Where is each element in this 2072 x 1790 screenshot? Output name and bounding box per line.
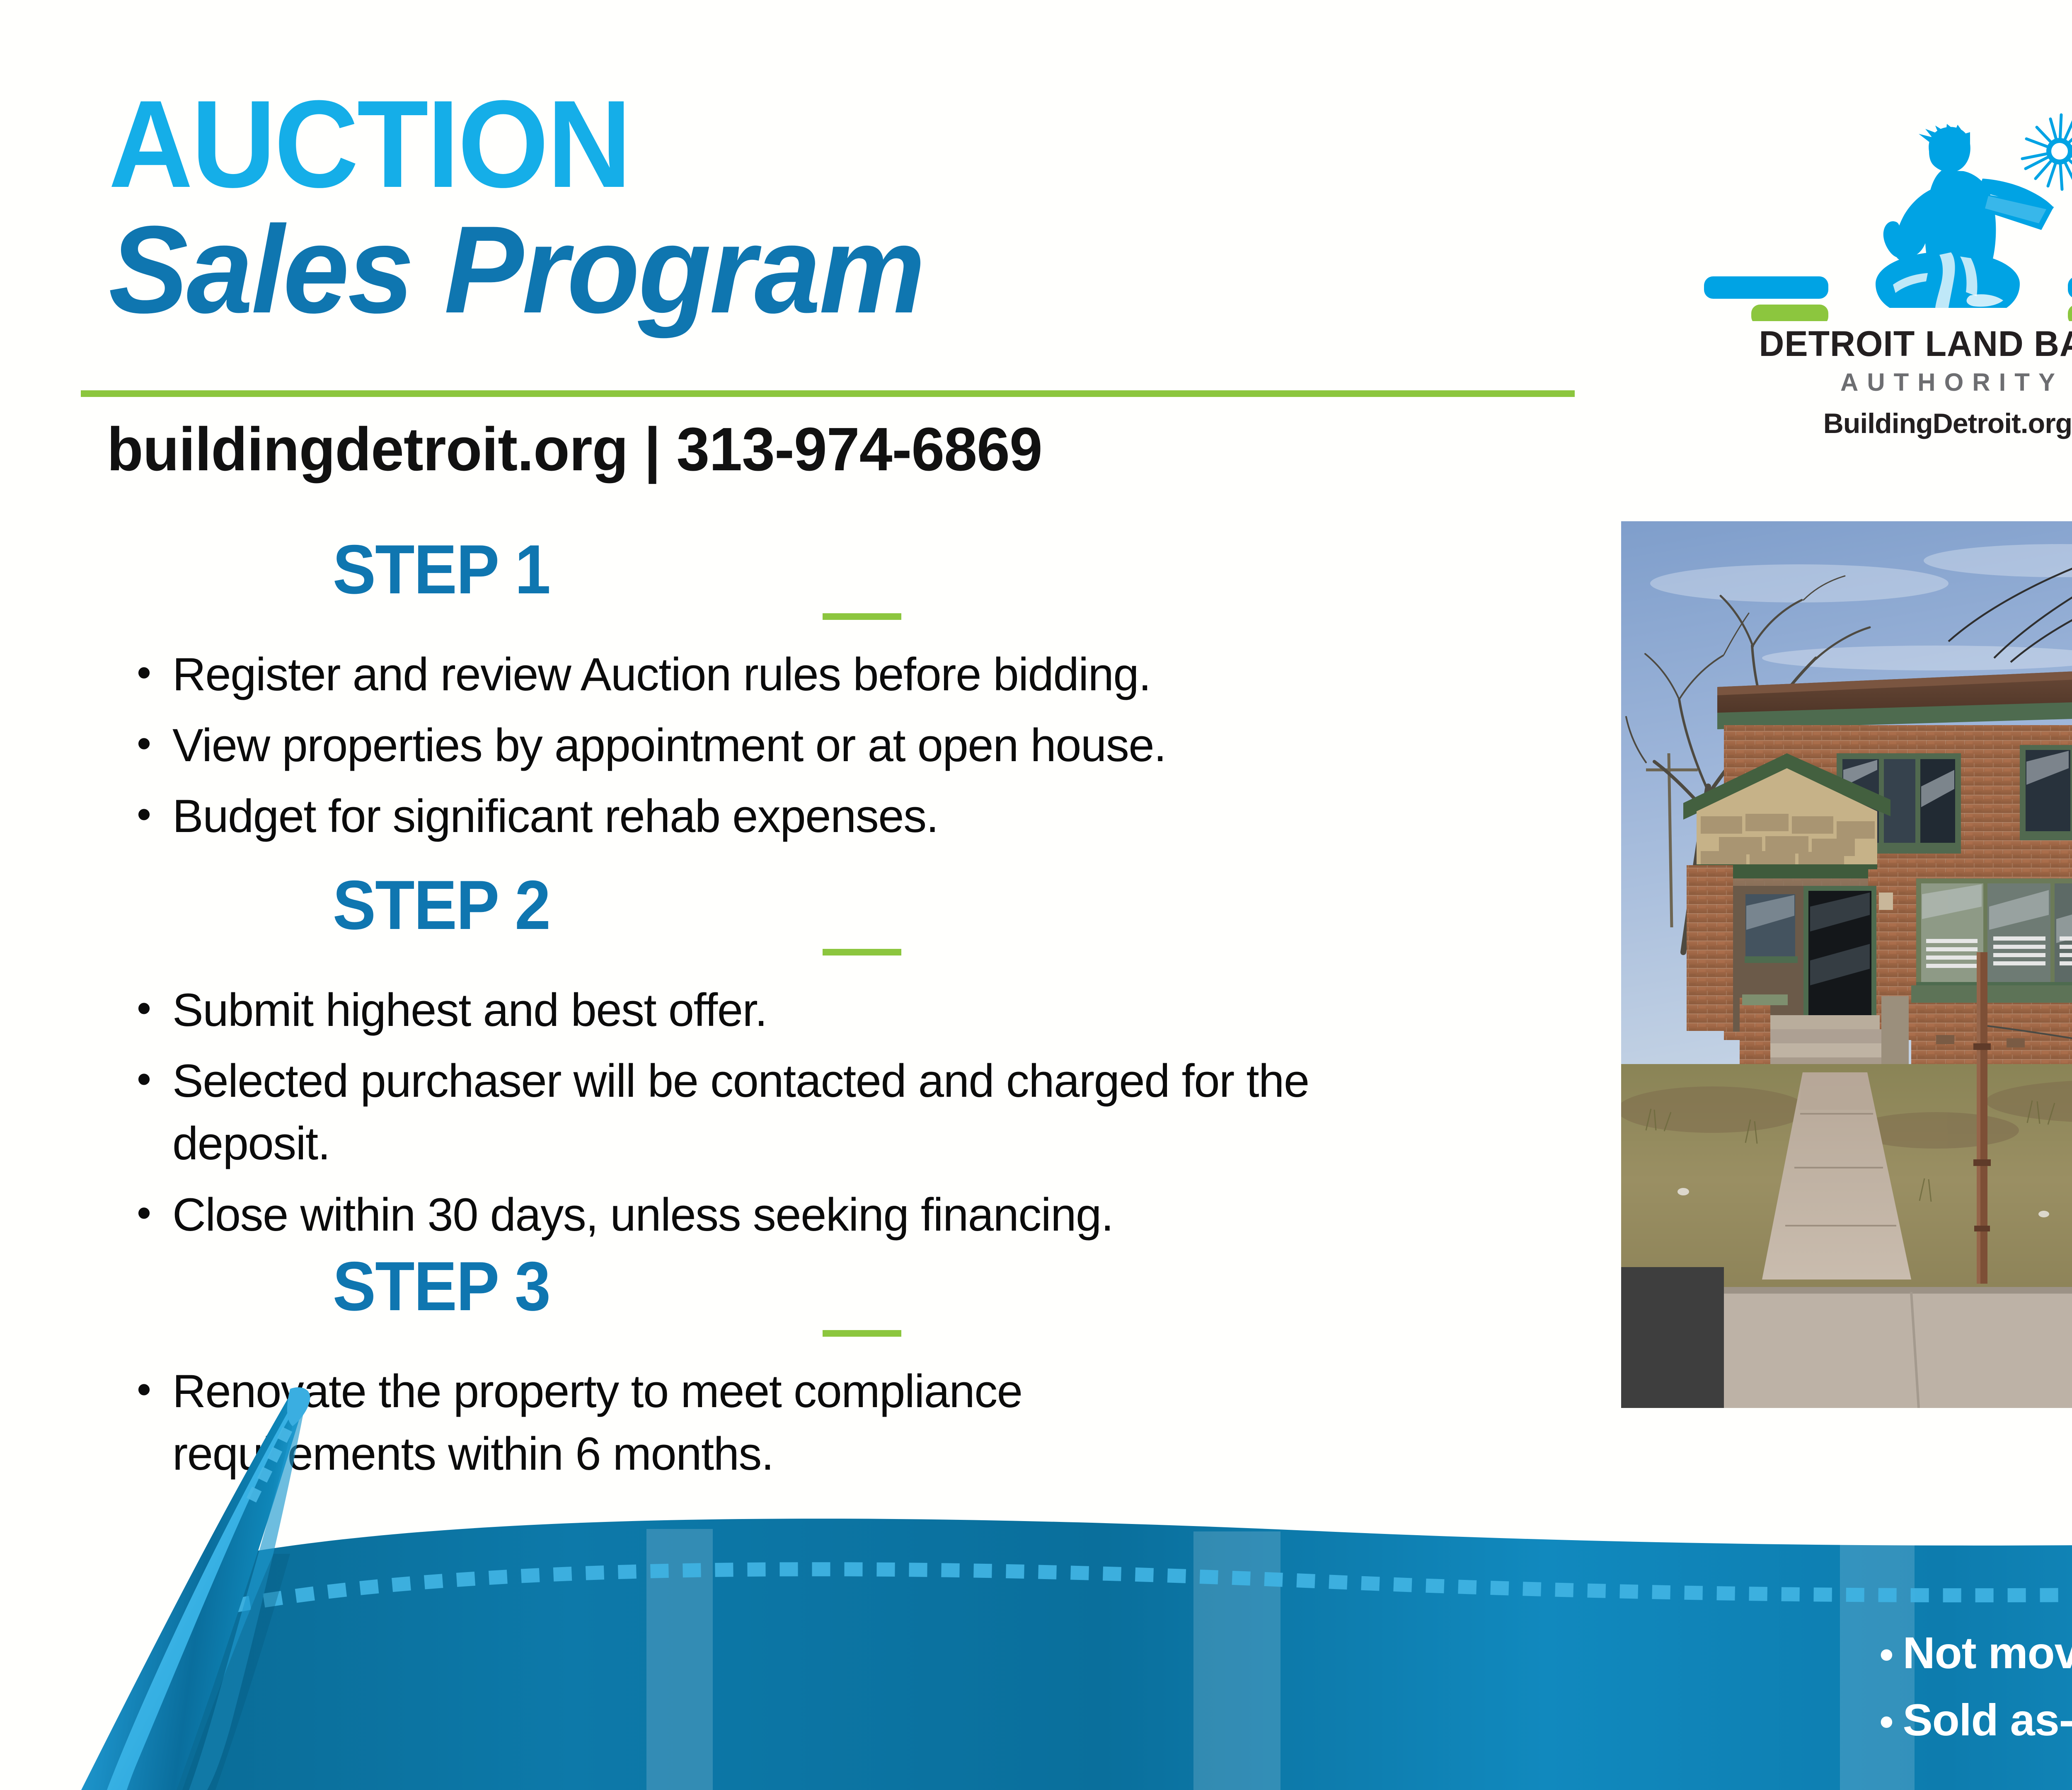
banner-bullet-list: • Not move-in ready • Sold as-is, where-…	[1880, 1619, 2072, 1754]
step-1-underline	[823, 613, 901, 620]
bottom-ribbon-banner: • Not move-in ready • Sold as-is, where-…	[0, 1380, 2072, 1790]
list-item: • Close within 30 days, unless seeking f…	[137, 1183, 1587, 1246]
list-item-text: Close within 30 days, unless seeking fin…	[172, 1183, 1587, 1246]
step-1-heading: STEP 1	[158, 535, 724, 604]
list-item-text: View properties by appointment or at ope…	[172, 714, 1587, 776]
bullet-icon: •	[137, 1183, 172, 1242]
list-item-text: Sold as-is, where-is	[1903, 1686, 2072, 1754]
list-item: • Budget for significant rehab expenses.	[137, 785, 1587, 847]
step-2-underline	[823, 949, 901, 955]
list-item: • Submit highest and best offer.	[137, 979, 1587, 1041]
list-item-text: Selected purchaser will be contacted and…	[172, 1050, 1430, 1175]
list-item-text: Not move-in ready	[1903, 1619, 2072, 1686]
bullet-icon: •	[137, 979, 172, 1038]
step-2-bullet-list: • Submit highest and best offer. • Selec…	[137, 979, 1587, 1246]
step-2-heading: STEP 2	[158, 870, 724, 940]
page-title-secondary: Sales Program	[109, 205, 1541, 334]
list-item-text: Submit highest and best offer.	[172, 979, 1587, 1041]
list-item-text: Budget for significant rehab expenses.	[172, 785, 1587, 847]
step-group-2: STEP 2 • Submit highest and best offer. …	[137, 870, 1587, 1249]
contact-line[interactable]: buildingdetroit.org | 313-974-6869	[107, 414, 1042, 485]
logo-website-url[interactable]: BuildingDetroit.org	[1695, 407, 2072, 440]
step-3-underline	[823, 1330, 901, 1337]
list-item-text: Register and review Auction rules before…	[172, 643, 1587, 706]
bullet-icon: •	[137, 714, 172, 773]
step-3-heading: STEP 3	[158, 1251, 724, 1321]
page-title-primary: AUCTION	[109, 83, 1511, 205]
list-item: • View properties by appointment or at o…	[137, 714, 1587, 776]
step-group-1: STEP 1 • Register and review Auction rul…	[137, 535, 1587, 851]
list-item: • Sold as-is, where-is	[1880, 1686, 2072, 1754]
title-block: AUCTION Sales Program	[109, 83, 1600, 334]
bullet-icon: •	[1880, 1625, 1903, 1685]
spirit-of-detroit-icon	[1695, 89, 2072, 321]
auction-property-photo	[1621, 521, 2072, 1408]
logo-organization-subname: AUTHORITY	[1695, 368, 2072, 397]
detroit-land-bank-logo[interactable]: DETROIT LAND BANK AUTHORITY BuildingDetr…	[1695, 89, 2072, 440]
bullet-icon: •	[137, 785, 172, 844]
list-item: • Not move-in ready	[1880, 1619, 2072, 1686]
list-item: • Register and review Auction rules befo…	[137, 643, 1587, 706]
step-1-bullet-list: • Register and review Auction rules befo…	[137, 643, 1587, 848]
list-item: • Selected purchaser will be contacted a…	[137, 1050, 1430, 1175]
title-divider-rule	[81, 390, 1575, 397]
logo-organization-name: DETROIT LAND BANK	[1700, 324, 2072, 365]
bullet-icon: •	[137, 643, 172, 702]
bullet-icon: •	[137, 1050, 172, 1108]
bullet-icon: •	[1880, 1692, 1903, 1752]
